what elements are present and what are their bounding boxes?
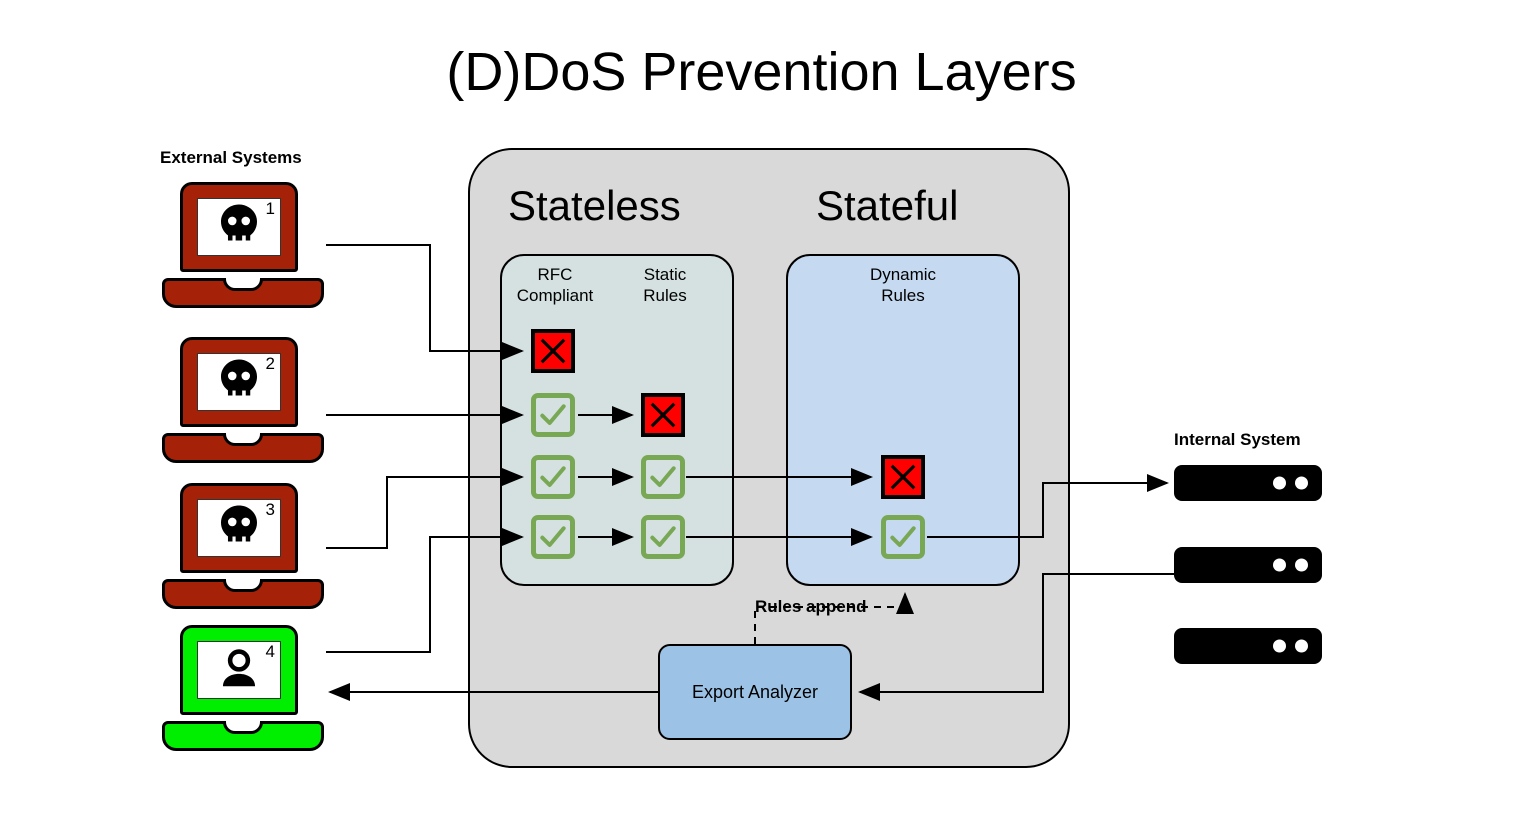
server-led-icon <box>1273 559 1286 572</box>
wire-dynamic-to-internal <box>927 483 1167 537</box>
allow-check-icon <box>531 455 575 499</box>
internal-server-2 <box>1174 547 1322 583</box>
wire-client4-to-rfc <box>326 537 522 652</box>
allow-check-icon <box>531 515 575 559</box>
wire-internal-to-analyzer <box>860 574 1174 692</box>
server-led-icon <box>1295 477 1308 490</box>
server-led-icon <box>1295 559 1308 572</box>
server-led-icon <box>1295 640 1308 653</box>
allow-check-icon <box>641 515 685 559</box>
rules-append-label: Rules append <box>755 597 866 617</box>
export-analyzer-box[interactable]: Export Analyzer <box>658 644 852 740</box>
server-led-icon <box>1273 477 1286 490</box>
allow-check-icon <box>881 515 925 559</box>
allow-check-icon <box>641 455 685 499</box>
block-x-icon <box>881 455 925 499</box>
block-x-icon <box>531 329 575 373</box>
block-x-icon <box>641 393 685 437</box>
server-led-icon <box>1273 640 1286 653</box>
export-analyzer-label: Export Analyzer <box>692 682 818 703</box>
allow-check-icon <box>531 393 575 437</box>
internal-server-1 <box>1174 465 1322 501</box>
internal-server-3 <box>1174 628 1322 664</box>
wire-client1-to-rfc <box>326 245 522 351</box>
diagram-canvas: (D)DoS Prevention Layers External System… <box>0 0 1523 827</box>
